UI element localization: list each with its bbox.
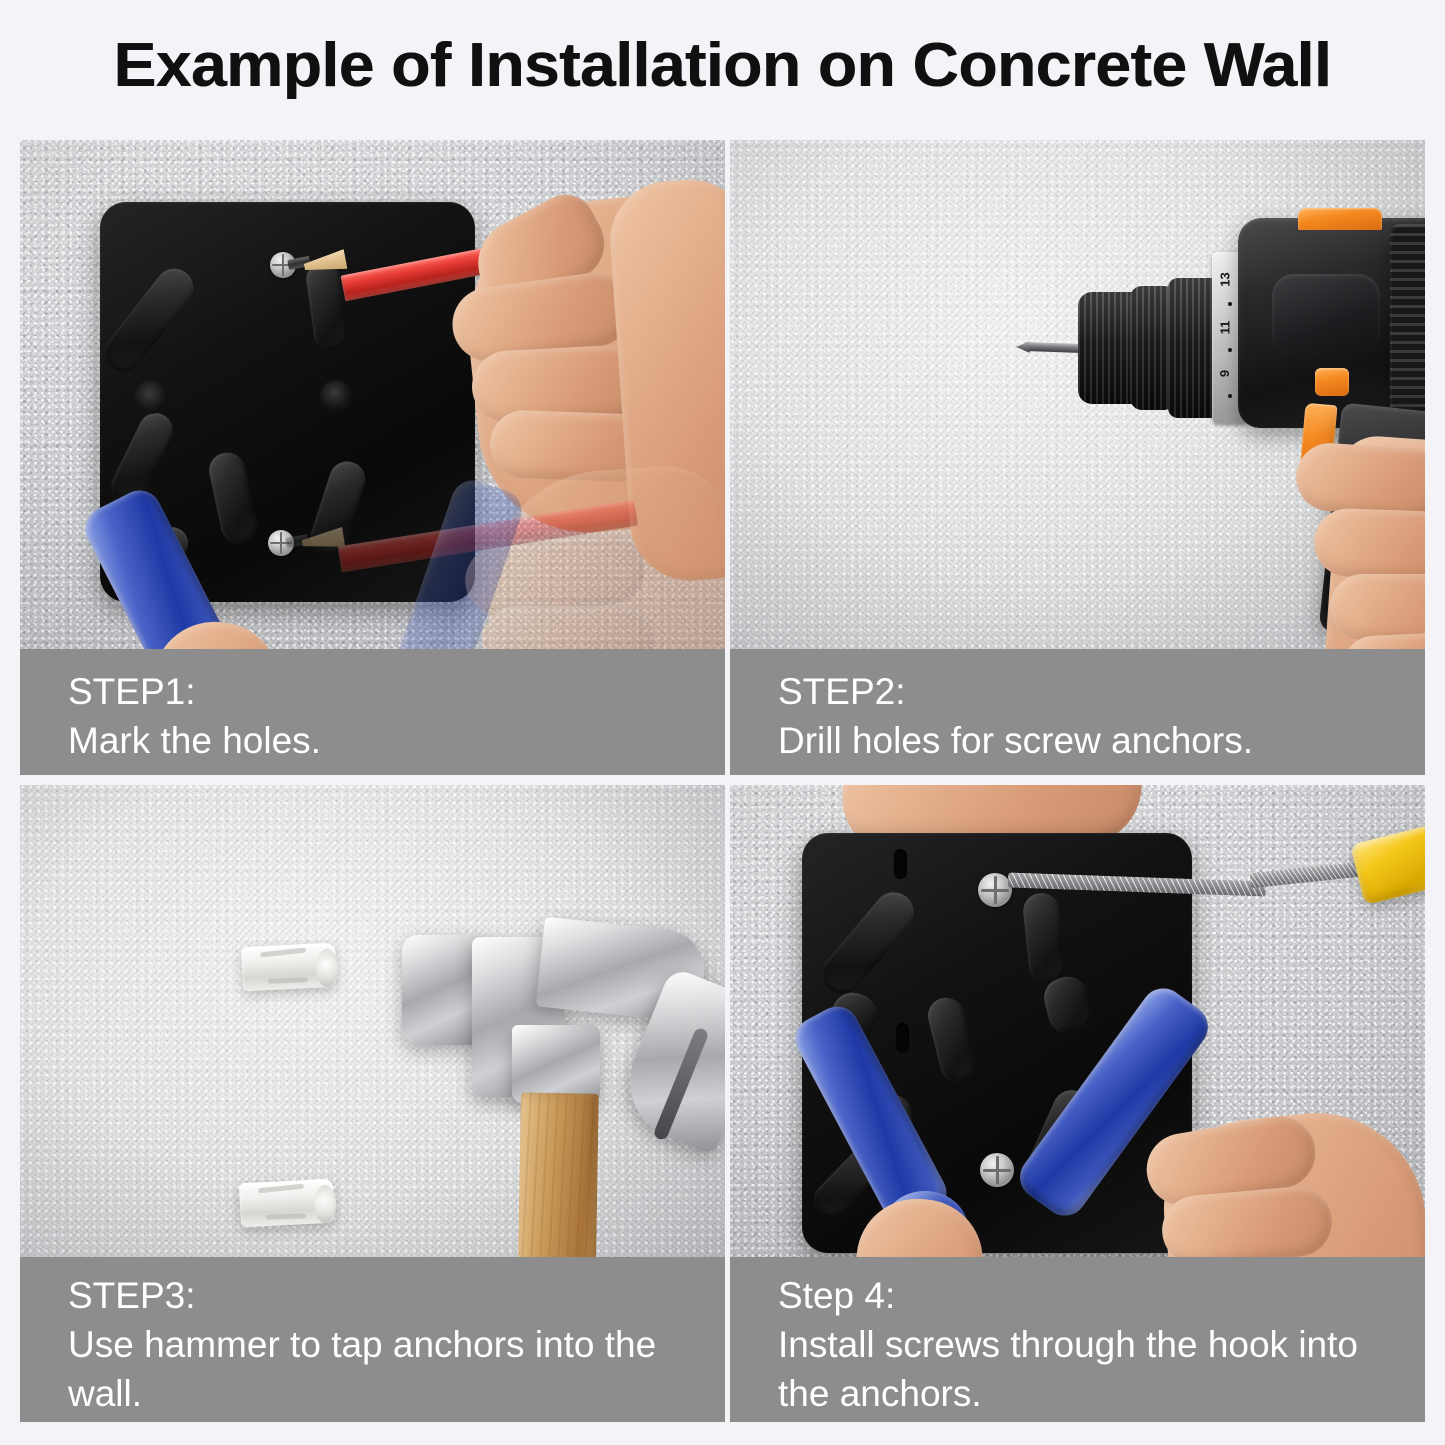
step-4-description: Install screws through the hook into the… bbox=[778, 1320, 1378, 1418]
step-panel-3: STEP3: Use hammer to tap anchors into th… bbox=[20, 785, 725, 1422]
clutch-number-9: 9 bbox=[1217, 370, 1232, 377]
photo-vignette bbox=[20, 785, 725, 1257]
ring-finger bbox=[1330, 574, 1425, 640]
step-4-label: Step 4: bbox=[778, 1271, 1378, 1320]
drill-motor-housing bbox=[1390, 224, 1425, 424]
drill-chuck-front bbox=[1078, 292, 1138, 404]
clutch-tick bbox=[1228, 348, 1232, 352]
step-4-caption: Step 4: Install screws through the hook … bbox=[730, 1257, 1425, 1422]
step-2-photo: 13 11 9 bbox=[730, 140, 1425, 649]
drill-top-accent bbox=[1298, 208, 1382, 230]
clutch-tick bbox=[1228, 394, 1232, 398]
step-2-description: Drill holes for screw anchors. bbox=[778, 716, 1425, 765]
step-panel-2: 13 11 9 bbox=[730, 140, 1425, 775]
step-2-label: STEP2: bbox=[778, 667, 1425, 716]
installed-screw-top bbox=[978, 873, 1012, 907]
plate-mount-hole bbox=[134, 380, 168, 414]
step-1-photo bbox=[20, 140, 725, 649]
middle-finger bbox=[1313, 507, 1425, 580]
installation-guide-page: Example of Installation on Concrete Wall bbox=[0, 0, 1445, 1445]
installed-screw-bottom bbox=[980, 1153, 1014, 1187]
step-1-description: Mark the holes. bbox=[68, 716, 725, 765]
step-2-caption: STEP2: Drill holes for screw anchors. bbox=[730, 649, 1425, 775]
drill-side-panel bbox=[1272, 274, 1380, 354]
clutch-number-13: 13 bbox=[1218, 272, 1233, 286]
step-panel-1: STEP1: Mark the holes. bbox=[20, 140, 725, 775]
step-3-label: STEP3: bbox=[68, 1271, 668, 1320]
steps-grid: STEP1: Mark the holes. 13 11 bbox=[20, 140, 1425, 1422]
step-3-photo bbox=[20, 785, 725, 1257]
clutch-tick bbox=[1228, 302, 1232, 306]
plate-keyhole-slot bbox=[896, 1023, 909, 1053]
page-title: Example of Installation on Concrete Wall bbox=[114, 30, 1332, 101]
step-1-caption: STEP1: Mark the holes. bbox=[20, 649, 725, 775]
plate-keyhole-slot bbox=[894, 849, 907, 879]
anchor-mouth bbox=[314, 1185, 336, 1223]
step-3-caption: STEP3: Use hammer to tap anchors into th… bbox=[20, 1257, 725, 1422]
ghost-middle-finger bbox=[482, 606, 654, 649]
step-panel-4: Step 4: Install screws through the hook … bbox=[730, 785, 1425, 1422]
step-3-description: Use hammer to tap anchors into the wall. bbox=[68, 1320, 668, 1418]
step-4-photo bbox=[730, 785, 1425, 1257]
hammer-eye-collar bbox=[512, 1025, 600, 1103]
clutch-number-11: 11 bbox=[1217, 321, 1232, 335]
step-1-label: STEP1: bbox=[68, 667, 725, 716]
title-bar: Example of Installation on Concrete Wall bbox=[0, 0, 1445, 130]
plate-mount-hole bbox=[320, 380, 352, 412]
hammer-handle bbox=[515, 1092, 599, 1257]
drill-direction-switch[interactable] bbox=[1315, 368, 1349, 396]
anchor-mouth bbox=[316, 949, 338, 987]
